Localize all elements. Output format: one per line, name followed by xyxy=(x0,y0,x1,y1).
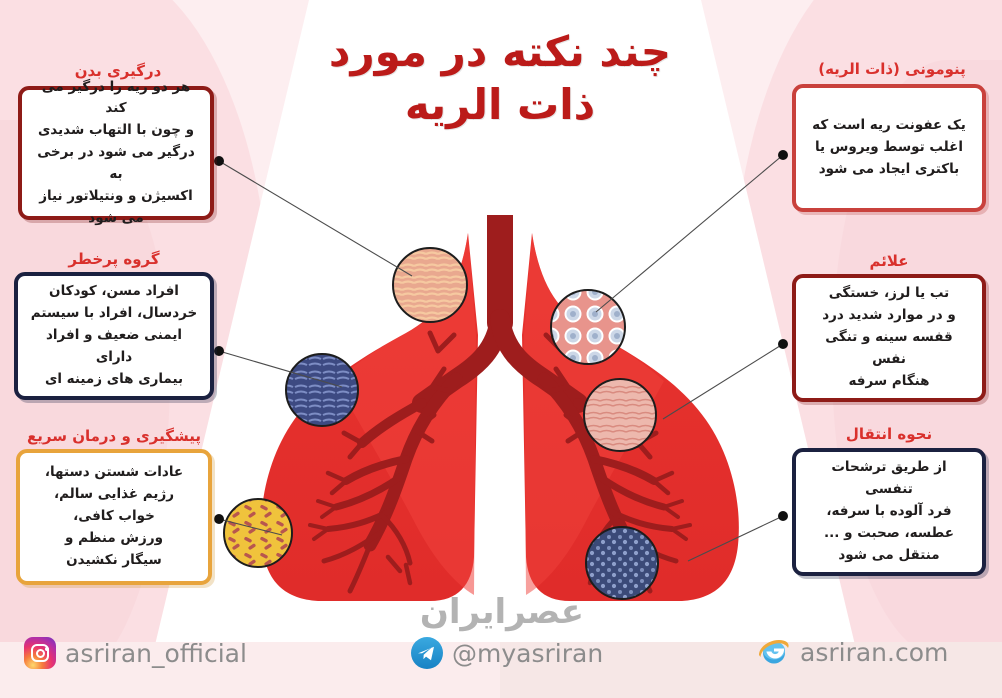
footer-instagram[interactable]: asriran_official xyxy=(24,637,247,669)
lungs-illustration xyxy=(210,215,790,615)
box-heading-symptoms: علائم xyxy=(792,252,986,270)
info-box-pneumonia: یک عفونت ریه است که اغلب توسط ویروس یا ب… xyxy=(792,84,986,212)
info-box-prevention: عادات شستن دستها، رژیم غذایی سالم، خواب … xyxy=(16,449,212,585)
marker-alveoli-pink xyxy=(584,379,656,451)
marker-inflamed-tissue xyxy=(393,248,467,322)
footer-instagram-handle: asriran_official xyxy=(65,639,247,668)
footer-telegram[interactable]: @myasriran xyxy=(411,637,603,669)
info-box-transmission: از طریق ترشحات تنفسی فرد آلوده با سرفه، … xyxy=(792,448,986,576)
info-box-symptoms-text: تب یا لرز، خستگی و در موارد شدید درد قفس… xyxy=(806,283,972,392)
info-box-high-risk-group: افراد مسن، کودکان خردسال، افراد با سیستم… xyxy=(14,272,214,400)
info-box-transmission-text: از طریق ترشحات تنفسی فرد آلوده با سرفه، … xyxy=(806,457,972,566)
internet-explorer-icon xyxy=(757,636,791,668)
info-box-prevention-text: عادات شستن دستها، رژیم غذایی سالم، خواب … xyxy=(30,462,198,571)
footer-website[interactable]: asriran.com xyxy=(757,636,948,668)
box-heading-prevention: پیشگیری و درمان سریع xyxy=(10,427,218,445)
title-line-2: ذات الریه xyxy=(300,79,700,132)
box-heading-high-risk-group: گروه پرخطر xyxy=(14,250,214,268)
telegram-icon xyxy=(411,637,443,669)
footer-telegram-handle: @myasriran xyxy=(452,639,603,668)
footer-website-url: asriran.com xyxy=(800,638,948,667)
infographic-canvas: چند نکته در مورد ذات الریه xyxy=(0,0,1002,698)
title-line-1: چند نکته در مورد xyxy=(300,26,700,79)
info-box-high-risk-group-text: افراد مسن، کودکان خردسال، افراد با سیستم… xyxy=(28,281,200,390)
marker-cells-blue xyxy=(551,290,625,364)
box-heading-pneumonia: پنومونی (ذات الریه) xyxy=(792,60,992,78)
marker-bacteria-yellow xyxy=(224,499,292,567)
box-heading-transmission: نحوه انتقال xyxy=(792,425,986,443)
marker-virus-blue xyxy=(286,354,358,426)
page-title: چند نکته در مورد ذات الریه xyxy=(300,26,700,131)
info-box-body-involvement-text: هر دو ریه را درگیر می کند و چون با التها… xyxy=(32,77,200,230)
instagram-icon xyxy=(24,637,56,669)
info-box-symptoms: تب یا لرز، خستگی و در موارد شدید درد قفس… xyxy=(792,274,986,402)
info-box-body-involvement: هر دو ریه را درگیر می کند و چون با التها… xyxy=(18,86,214,220)
marker-germs-navy xyxy=(586,527,658,599)
watermark: عصرایران xyxy=(424,592,584,632)
info-box-pneumonia-text: یک عفونت ریه است که اغلب توسط ویروس یا ب… xyxy=(806,115,972,181)
